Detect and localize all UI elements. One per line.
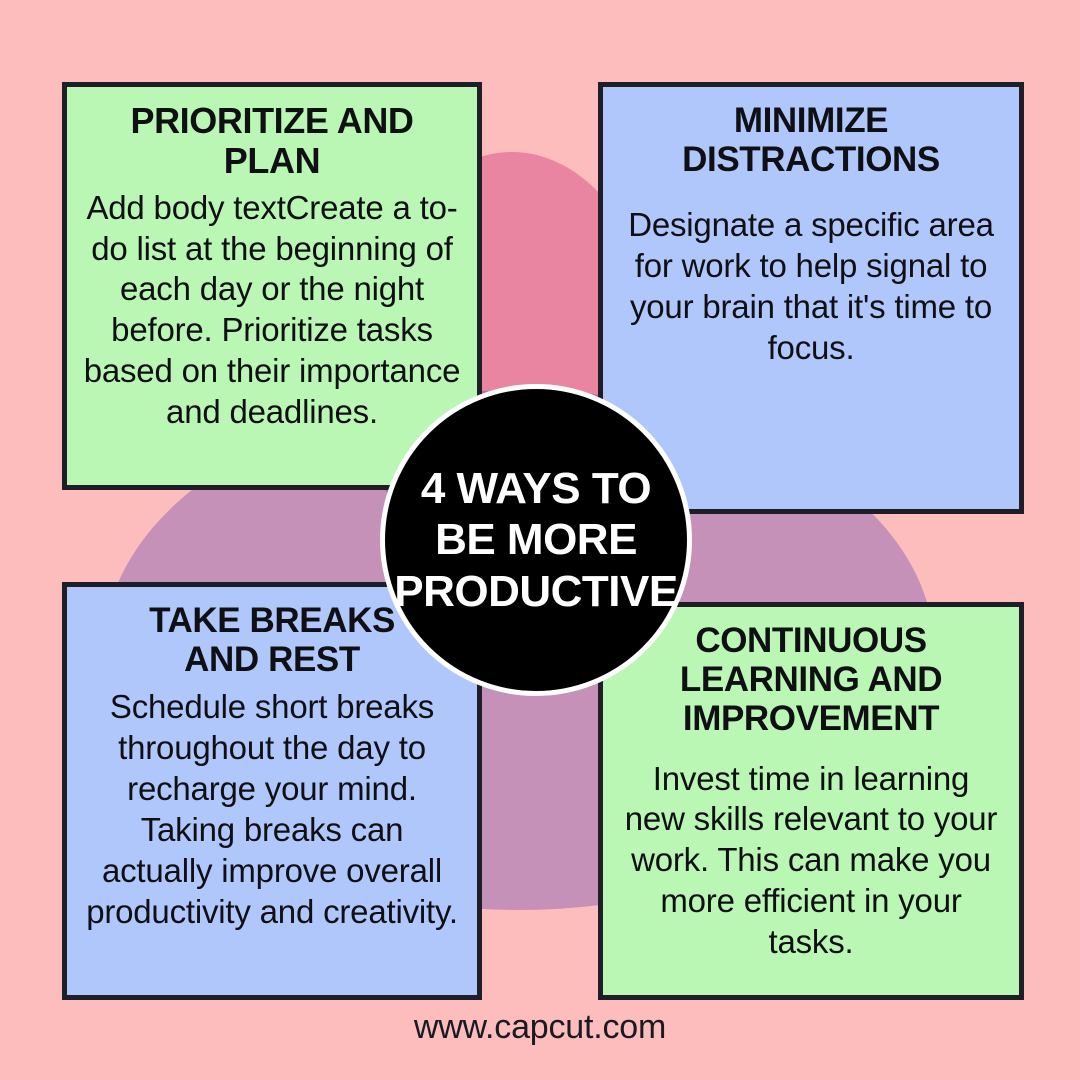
center-badge: 4 WAYS TO BE MORE PRODUCTIVE — [380, 384, 692, 696]
card-body: Designate a specific area for work to he… — [619, 205, 1003, 369]
card-body: Add body textCreate a to-do list at the … — [83, 188, 461, 433]
center-badge-text: 4 WAYS TO BE MORE PRODUCTIVE — [385, 463, 687, 616]
card-title: CONTINUOUS LEARNING AND IMPROVEMENT — [619, 621, 1003, 739]
card-body: Invest time in learning new skills relev… — [619, 759, 1003, 964]
infographic-canvas: PRIORITIZE AND PLAN Add body textCreate … — [0, 0, 1080, 1080]
card-title: PRIORITIZE AND PLAN — [83, 101, 461, 182]
card-body: Schedule short breaks throughout the day… — [83, 687, 461, 932]
card-prioritize-and-plan: PRIORITIZE AND PLAN Add body textCreate … — [62, 82, 482, 490]
card-title: MINIMIZE DISTRACTIONS — [619, 101, 1003, 179]
card-take-breaks-and-rest: TAKE BREAKS AND REST Schedule short brea… — [62, 582, 482, 1000]
card-continuous-learning-and-improvement: CONTINUOUS LEARNING AND IMPROVEMENT Inve… — [598, 602, 1024, 1000]
footer-url: www.capcut.com — [0, 1008, 1080, 1047]
